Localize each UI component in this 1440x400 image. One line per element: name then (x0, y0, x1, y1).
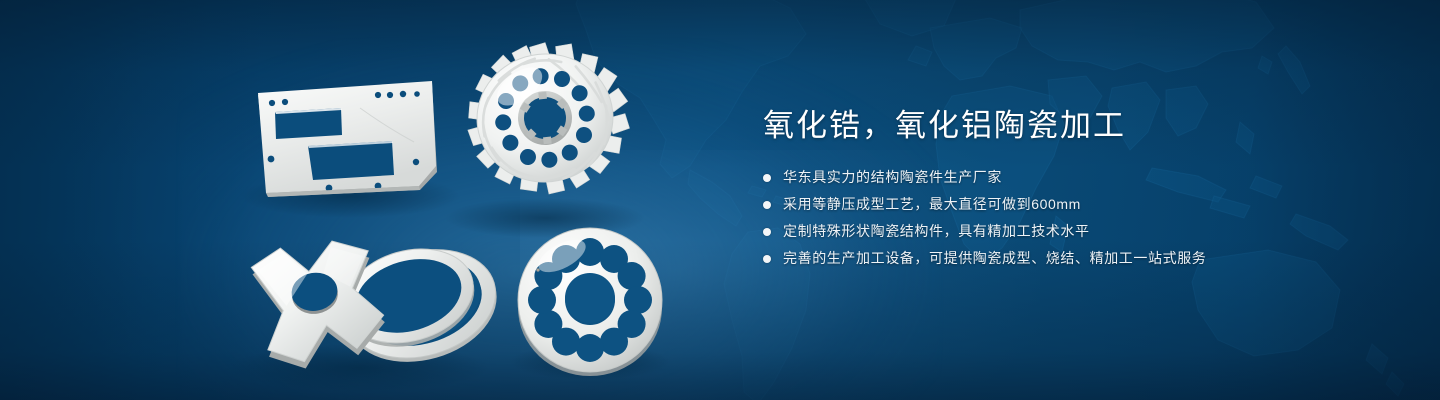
list-item: 定制特殊形状陶瓷结构件，具有精加工技术水平 (763, 222, 1383, 241)
bullet-dot-icon (763, 201, 771, 209)
ceramic-products-image (0, 0, 720, 400)
ceramic-perforated-disc-part (518, 228, 662, 376)
list-item-label: 完善的生产加工设备，可提供陶瓷成型、烧结、精加工一站式服务 (783, 249, 1206, 268)
ceramic-impeller-part (460, 35, 637, 202)
banner-copy: 氧化锆，氧化铝陶瓷加工 华东具实力的结构陶瓷件生产厂家 采用等静压成型工艺，最大… (763, 106, 1383, 268)
list-item: 采用等静压成型工艺，最大直径可做到600mm (763, 195, 1383, 214)
bullet-dot-icon (763, 174, 771, 182)
list-item: 华东具实力的结构陶瓷件生产厂家 (763, 168, 1383, 187)
bullet-dot-icon (763, 228, 771, 236)
list-item: 完善的生产加工设备，可提供陶瓷成型、烧结、精加工一站式服务 (763, 249, 1383, 268)
ceramic-plate-part (258, 81, 437, 197)
feature-list: 华东具实力的结构陶瓷件生产厂家 采用等静压成型工艺，最大直径可做到600mm 定… (763, 168, 1383, 268)
page-title: 氧化锆，氧化铝陶瓷加工 (763, 106, 1383, 146)
list-item-label: 华东具实力的结构陶瓷件生产厂家 (783, 168, 1002, 187)
bullet-dot-icon (763, 255, 771, 263)
list-item-label: 定制特殊形状陶瓷结构件，具有精加工技术水平 (783, 222, 1090, 241)
list-item-label: 采用等静压成型工艺，最大直径可做到600mm (783, 195, 1081, 214)
promo-banner: 氧化锆，氧化铝陶瓷加工 华东具实力的结构陶瓷件生产厂家 采用等静压成型工艺，最大… (0, 0, 1440, 400)
